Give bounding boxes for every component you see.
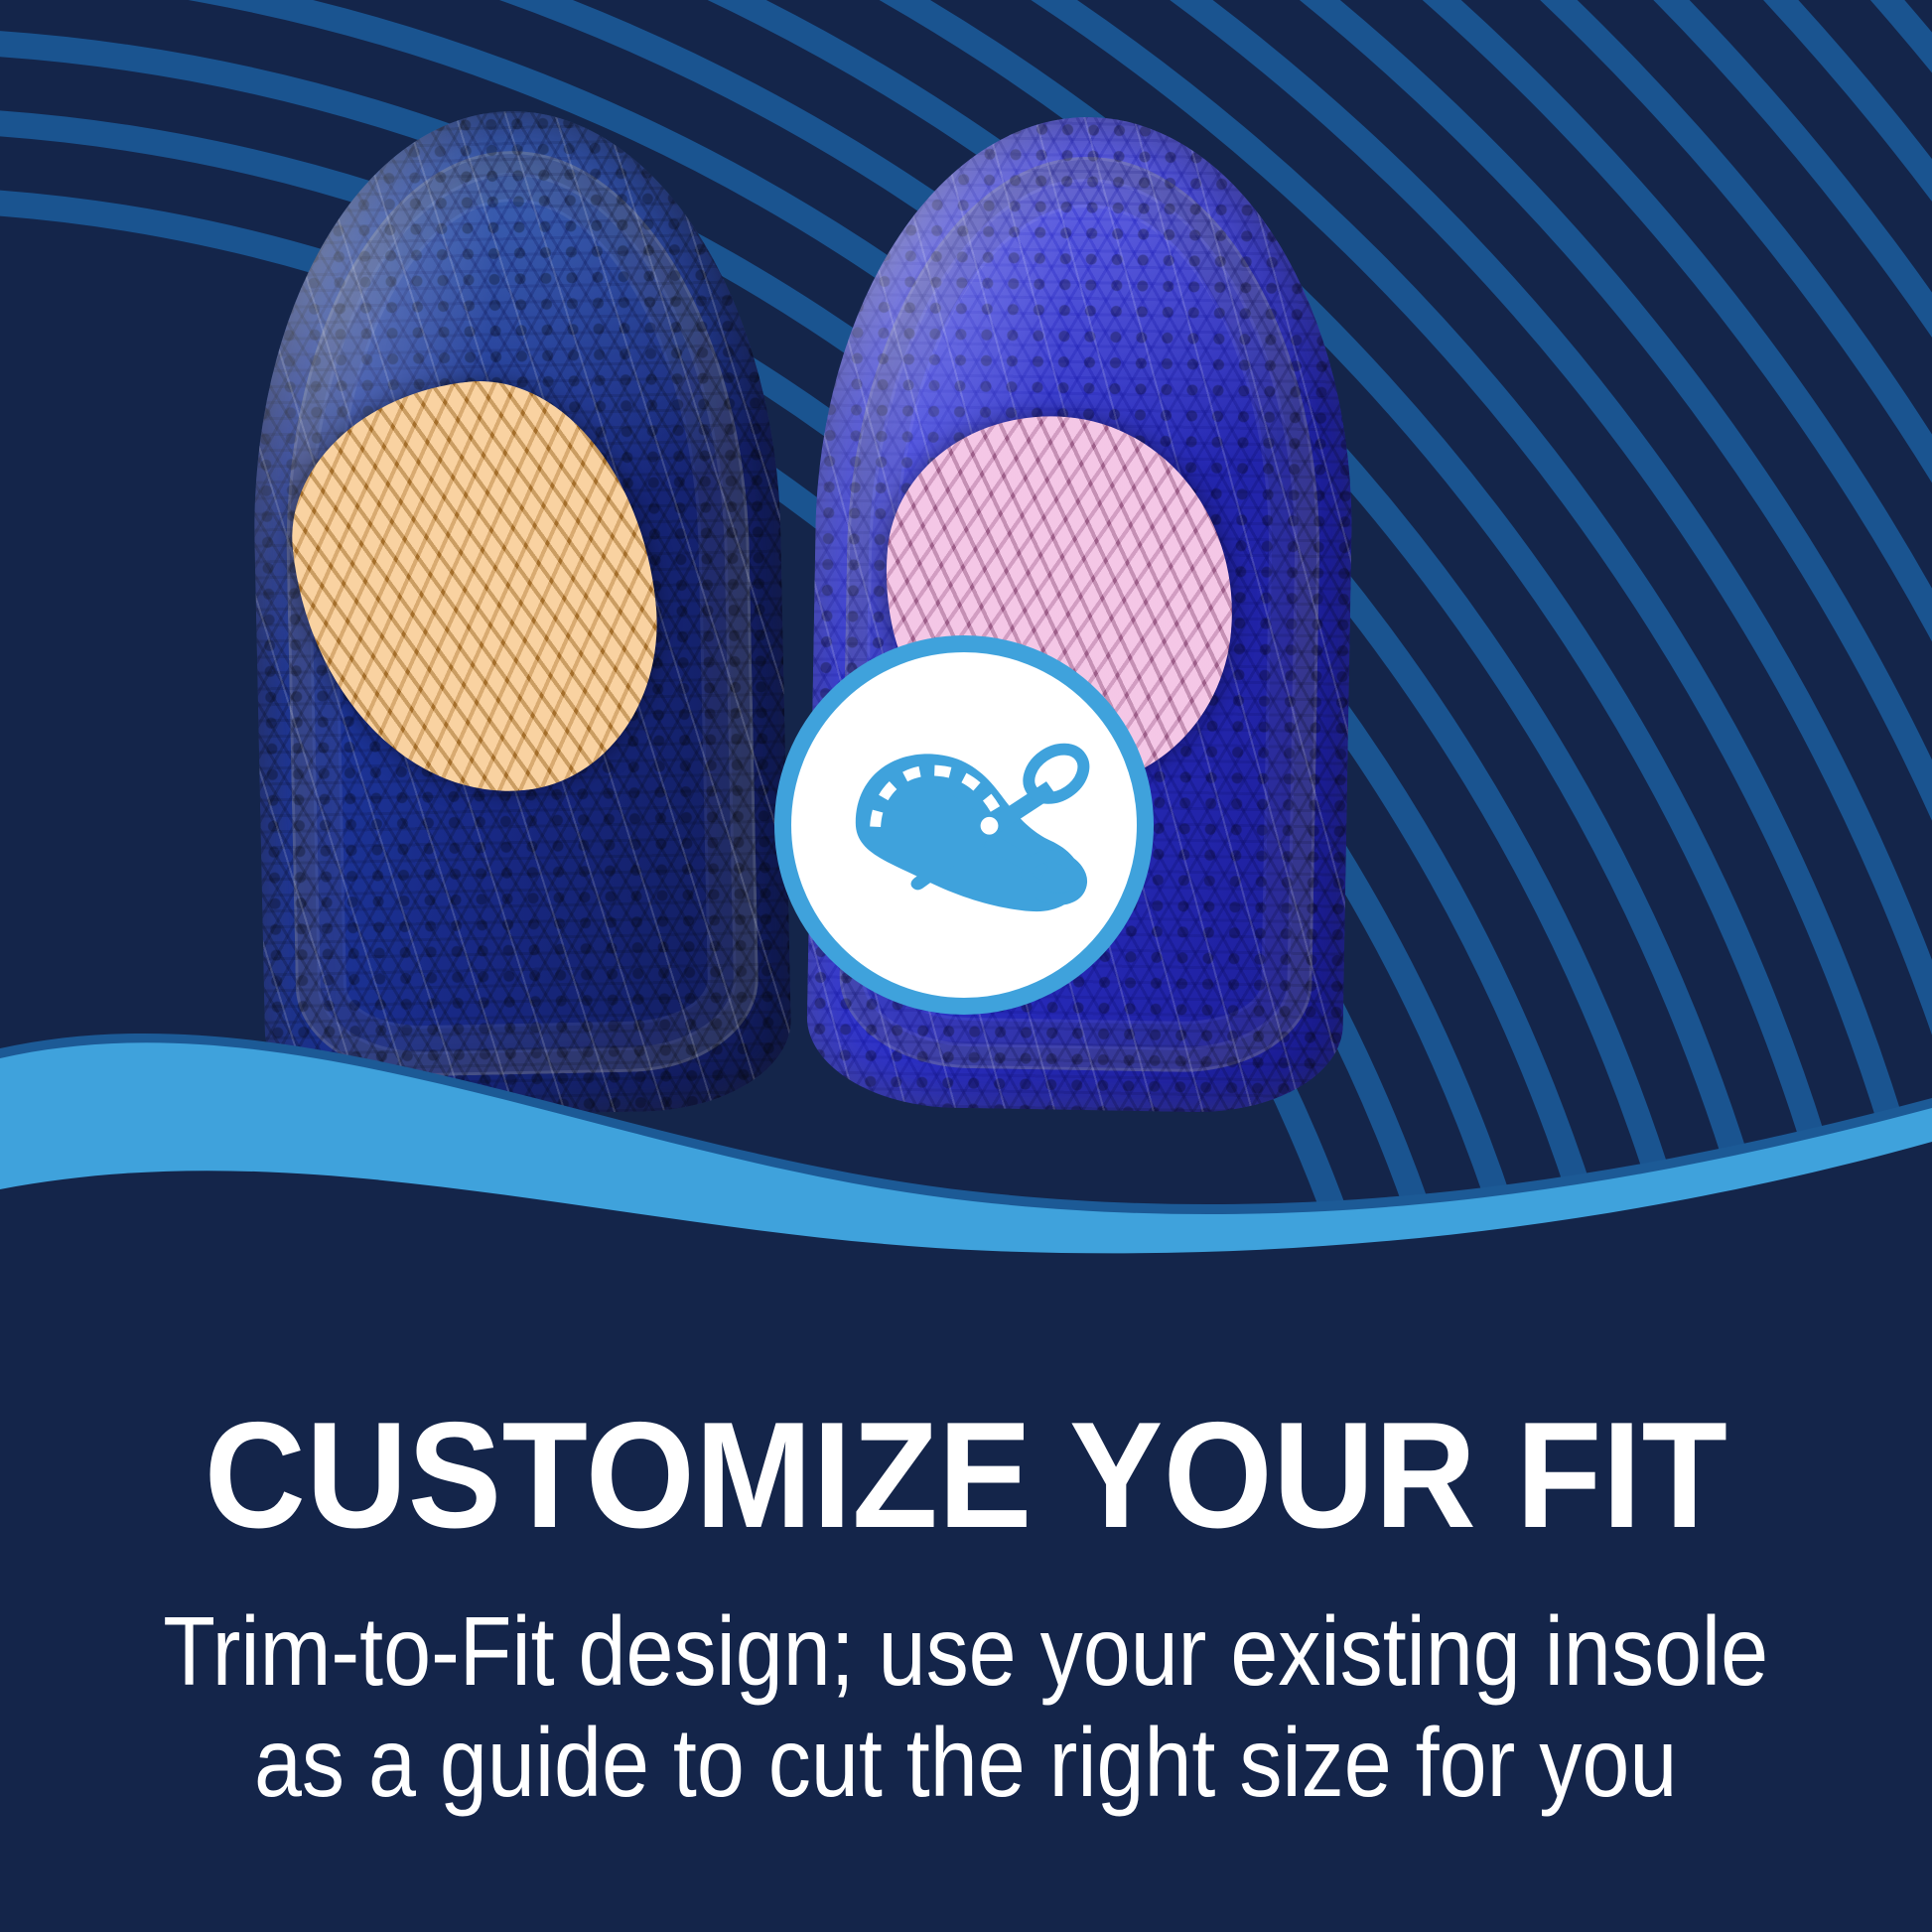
- subtitle-line-2: as a guide to cut the right size for you: [164, 1708, 1769, 1819]
- product-feature-card: CUSTOMIZE YOUR FIT Trim-to-Fit design; u…: [0, 0, 1932, 1932]
- trim-to-fit-badge: [774, 635, 1154, 1015]
- page-title: CUSTOMIZE YOUR FIT: [205, 1400, 1728, 1551]
- insole-trim-scissors-icon: [836, 697, 1092, 953]
- subtitle-line-1: Trim-to-Fit design; use your existing in…: [164, 1596, 1769, 1708]
- wave-divider: [0, 1003, 1932, 1281]
- subtitle: Trim-to-Fit design; use your existing in…: [164, 1596, 1769, 1818]
- text-block: CUSTOMIZE YOUR FIT Trim-to-Fit design; u…: [0, 1281, 1932, 1932]
- product-photo-area: [0, 0, 1932, 1281]
